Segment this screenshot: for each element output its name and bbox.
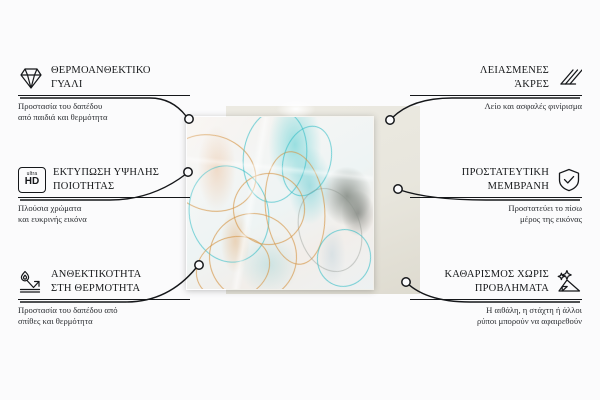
shield-check-icon — [556, 167, 582, 193]
feature-title: ΘΕΡΜΟΑΝΘΕΚΤΙΚΟ ΓΥΑΛΙ — [51, 64, 151, 91]
glass-panel — [186, 116, 374, 290]
feature-easy-cleaning: ΚΑΘΑΡΙΣΜΟΣ ΧΩΡΙΣ ΠΡΟΒΛΗΜΑΤΑ Η αιθάλη, η … — [410, 268, 582, 328]
diamond-icon — [18, 65, 44, 91]
feature-desc: Προστασία του δαπέδου από παιδιά και θερ… — [18, 101, 190, 124]
ultra-hd-icon-bottom: HD — [25, 177, 39, 187]
divider — [18, 299, 190, 300]
feature-title: ΛΕΙΑΣΜΕΝΕΣ ΆΚΡΕΣ — [480, 64, 549, 91]
polished-edges-icon — [556, 65, 582, 91]
feature-title: ΠΡΟΣΤΑΤΕΥΤΙΚΗ ΜΕΜΒΡΑΝΗ — [462, 166, 549, 193]
heat-resistance-icon — [18, 269, 44, 295]
feature-desc: Πλούσια χρώματα και ευκρινής εικόνα — [18, 203, 190, 226]
product-image-group — [180, 110, 420, 290]
feature-high-quality-print: ultra HD ΕΚΤΥΠΩΣΗ ΥΨΗΛΗΣ ΠΟΙΟΤΗΤΑΣ Πλούσ… — [18, 166, 190, 226]
divider — [18, 95, 190, 96]
divider — [18, 197, 190, 198]
feature-protective-membrane: ΠΡΟΣΤΑΤΕΥΤΙΚΗ ΜΕΜΒΡΑΝΗ Προστατεύει το πί… — [410, 166, 582, 226]
glass-reflection — [187, 117, 373, 289]
divider — [410, 299, 582, 300]
feature-heat-durability: ΑΝΘΕΚΤΙΚΟΤΗΤΑ ΣΤΗ ΘΕΡΜΟΤΗΤΑ Προστασία το… — [18, 268, 190, 328]
light-glare — [276, 100, 316, 118]
feature-desc: Η αιθάλη, η στάχτη ή άλλοι ρύποι μπορούν… — [410, 305, 582, 328]
feature-title: ΕΚΤΥΠΩΣΗ ΥΨΗΛΗΣ ΠΟΙΟΤΗΤΑΣ — [53, 166, 159, 193]
feature-desc: Προστασία του δαπέδου από σπίθες και θερ… — [18, 305, 190, 328]
feature-desc: Λείο και ασφαλές φινίρισμα — [410, 101, 582, 112]
divider — [410, 197, 582, 198]
infographic-stage: ΘΕΡΜΟΑΝΘΕΚΤΙΚΟ ΓΥΑΛΙ Προστασία του δαπέδ… — [0, 0, 600, 400]
feature-desc: Προστατεύει το πίσω μέρος της εικόνας — [410, 203, 582, 226]
divider — [410, 95, 582, 96]
feature-heat-resistant-glass: ΘΕΡΜΟΑΝΘΕΚΤΙΚΟ ΓΥΑΛΙ Προστασία του δαπέδ… — [18, 64, 190, 124]
feature-title: ΑΝΘΕΚΤΙΚΟΤΗΤΑ ΣΤΗ ΘΕΡΜΟΤΗΤΑ — [51, 268, 141, 295]
easy-cleaning-icon — [556, 269, 582, 295]
ultra-hd-icon: ultra HD — [18, 167, 46, 193]
feature-title: ΚΑΘΑΡΙΣΜΟΣ ΧΩΡΙΣ ΠΡΟΒΛΗΜΑΤΑ — [444, 268, 549, 295]
feature-polished-edges: ΛΕΙΑΣΜΕΝΕΣ ΆΚΡΕΣ Λείο και ασφαλές φινίρι… — [410, 64, 582, 112]
